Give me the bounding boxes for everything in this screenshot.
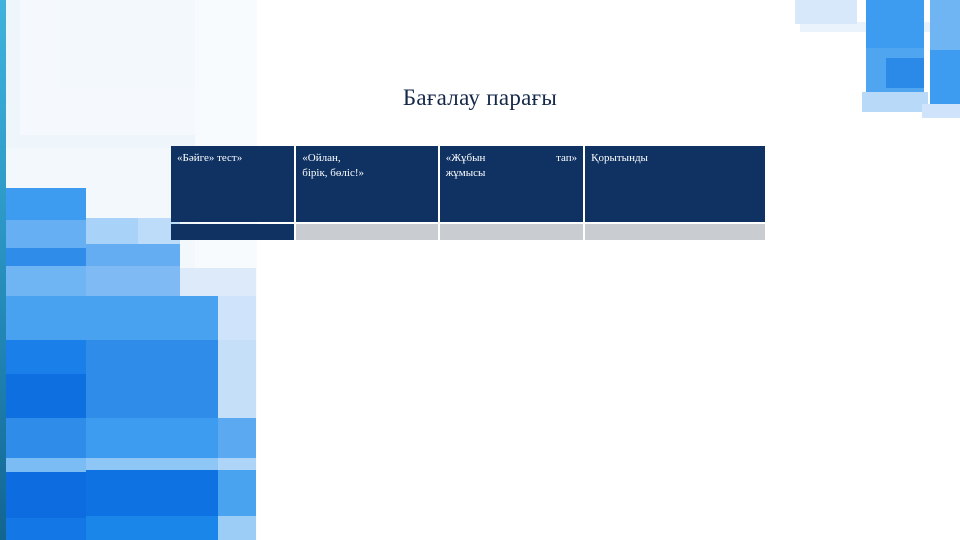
page-title: Бағалау парағы — [0, 84, 960, 112]
mosaic-tile — [6, 374, 86, 418]
mosaic-tile — [218, 296, 256, 344]
header-line-2: бірік, бөліс!» — [302, 167, 364, 179]
table-cell-korytyndy[interactable] — [585, 224, 765, 240]
mosaic-tile — [30, 218, 78, 242]
mosaic-tile — [6, 220, 86, 250]
background-wash-panel — [20, 0, 195, 135]
mosaic-tile — [218, 340, 256, 418]
table-header-cell-zhubyn: «Жұбын тап» жұмысы — [440, 146, 583, 222]
background-wash-panel — [6, 0, 256, 540]
table-cell-oilan[interactable] — [296, 224, 437, 240]
mosaic-tile — [86, 418, 218, 462]
header-line-1: «Жұбын тап» — [446, 152, 577, 164]
mosaic-tile — [86, 244, 180, 268]
background-wash-panel — [195, 0, 257, 540]
mosaic-tile — [930, 0, 960, 52]
mosaic-tile — [6, 340, 86, 374]
mosaic-tile — [86, 458, 218, 472]
table-row — [171, 224, 765, 240]
mosaic-tile — [6, 296, 86, 342]
mosaic-tile — [6, 266, 86, 316]
mosaic-tile — [86, 266, 180, 318]
mosaic-tile — [180, 268, 256, 318]
table-header-row: «Бәйге» тест» «Ойлан, бірік, бөліс!» «Жұ… — [171, 146, 765, 222]
mosaic-tile — [6, 458, 86, 474]
mosaic-tile — [795, 0, 857, 24]
mosaic-tile — [6, 418, 86, 462]
header-line-1: «Ойлан, — [302, 152, 340, 164]
mosaic-tile — [6, 518, 86, 540]
mosaic-tile — [218, 470, 256, 518]
left-edge-stripe-decoration — [0, 0, 6, 540]
mosaic-tile — [86, 340, 218, 418]
mosaic-tile — [86, 296, 218, 342]
mosaic-tile — [800, 22, 930, 32]
background-wash-panel — [60, 0, 195, 88]
table-cell-baige[interactable] — [171, 224, 294, 240]
mosaic-tile — [6, 248, 86, 268]
slide-canvas: Бағалау парағы «Бәйге» тест» «Ойлан, бір… — [0, 0, 960, 540]
mosaic-tile — [218, 516, 256, 540]
mosaic-tile — [86, 218, 138, 244]
mosaic-tile — [218, 418, 256, 460]
evaluation-table: «Бәйге» тест» «Ойлан, бірік, бөліс!» «Жұ… — [169, 144, 767, 242]
table-header-cell-korytyndy: Қорытынды — [585, 146, 765, 222]
table-header-cell-oilan: «Ойлан, бірік, бөліс!» — [296, 146, 437, 222]
header-line-2: жұмысы — [446, 166, 577, 181]
mosaic-tile — [6, 472, 86, 520]
mosaic-tile — [6, 188, 86, 220]
mosaic-tile — [218, 458, 256, 472]
table-header-cell-baige: «Бәйге» тест» — [171, 146, 294, 222]
table-cell-zhubyn[interactable] — [440, 224, 583, 240]
mosaic-tile — [866, 0, 924, 52]
mosaic-tile — [86, 470, 218, 518]
mosaic-tile — [86, 516, 218, 540]
